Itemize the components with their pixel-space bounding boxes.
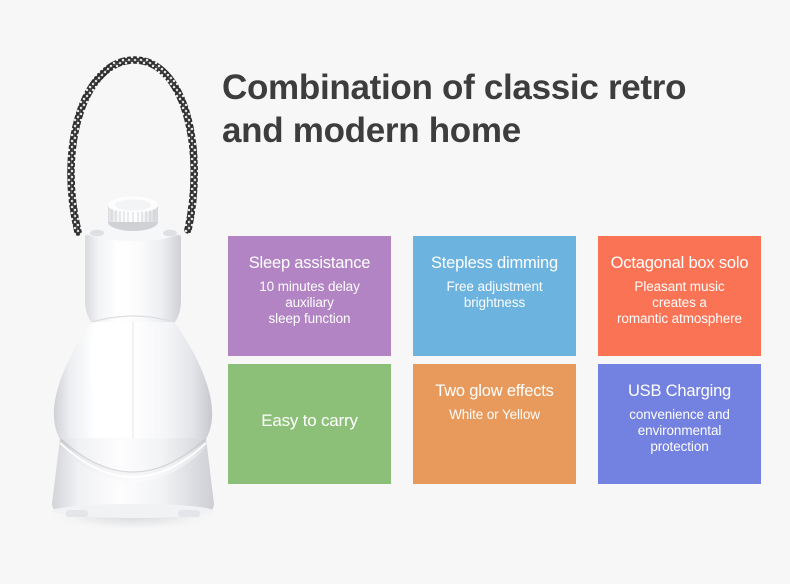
base-foot-right [178, 510, 200, 517]
base-foot-left [66, 510, 88, 517]
feature-title: Octagonal box solo [611, 254, 749, 273]
feature-title: USB Charging [628, 382, 731, 401]
feature-card-usb-charging[interactable]: USB Charging convenience and environment… [598, 364, 761, 484]
feature-card-two-glow-effects[interactable]: Two glow effects White or Yellow [413, 364, 576, 484]
product-image [0, 0, 218, 584]
feature-subtitle: convenience and environmental protection [629, 407, 730, 456]
page-title: Combination of classic retro and modern … [222, 67, 778, 152]
feature-grid: Sleep assistance 10 minutes delay auxili… [228, 236, 768, 484]
feature-card-stepless-dimming[interactable]: Stepless dimming Free adjustment brightn… [413, 236, 576, 356]
feature-card-sleep-assistance[interactable]: Sleep assistance 10 minutes delay auxili… [228, 236, 391, 356]
feature-subtitle: White or Yellow [449, 407, 540, 423]
feature-title: Easy to carry [261, 411, 358, 431]
cord-anchor-right [163, 230, 177, 237]
feature-title: Stepless dimming [431, 254, 558, 273]
feature-title: Sleep assistance [249, 254, 371, 273]
feature-subtitle: 10 minutes delay auxiliary sleep functio… [259, 279, 359, 328]
feature-title: Two glow effects [435, 382, 553, 401]
feature-subtitle: Free adjustment brightness [446, 279, 542, 311]
cord-anchor-left [90, 230, 104, 237]
knob-cap [108, 197, 158, 232]
feature-subtitle: Pleasant music creates a romantic atmosp… [617, 279, 742, 328]
feature-card-octagonal-box-solo[interactable]: Octagonal box solo Pleasant music create… [598, 236, 761, 356]
lantern-illustration [0, 0, 218, 584]
feature-card-easy-to-carry[interactable]: Easy to carry [228, 364, 391, 484]
